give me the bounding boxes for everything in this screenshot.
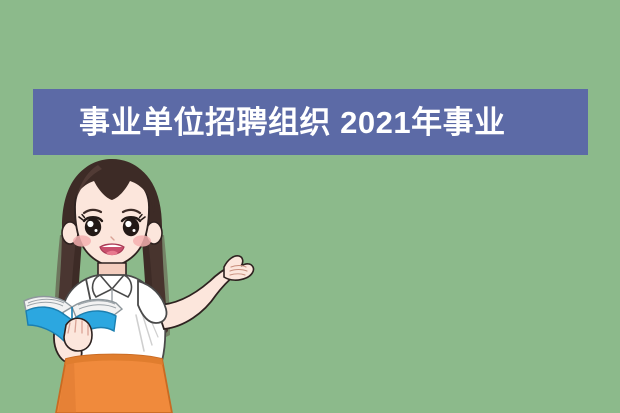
title-banner: 事业单位招聘组织 2021年事业 <box>33 89 588 155</box>
page-title: 事业单位招聘组织 2021年事业 <box>79 107 506 138</box>
eye-left-highlight-small <box>95 229 98 232</box>
eye-right <box>123 218 139 236</box>
eye-left <box>85 218 101 236</box>
hand-open-palm <box>224 256 254 280</box>
cartoon-girl-illustration <box>18 155 258 413</box>
eye-left-highlight-big <box>87 221 93 227</box>
eye-right-highlight-big <box>125 221 131 227</box>
poster-canvas: 事业单位招聘组织 2021年事业 <box>0 0 620 413</box>
blush-right <box>133 235 151 246</box>
eye-right-highlight-small <box>133 229 136 232</box>
blush-left <box>73 235 91 246</box>
